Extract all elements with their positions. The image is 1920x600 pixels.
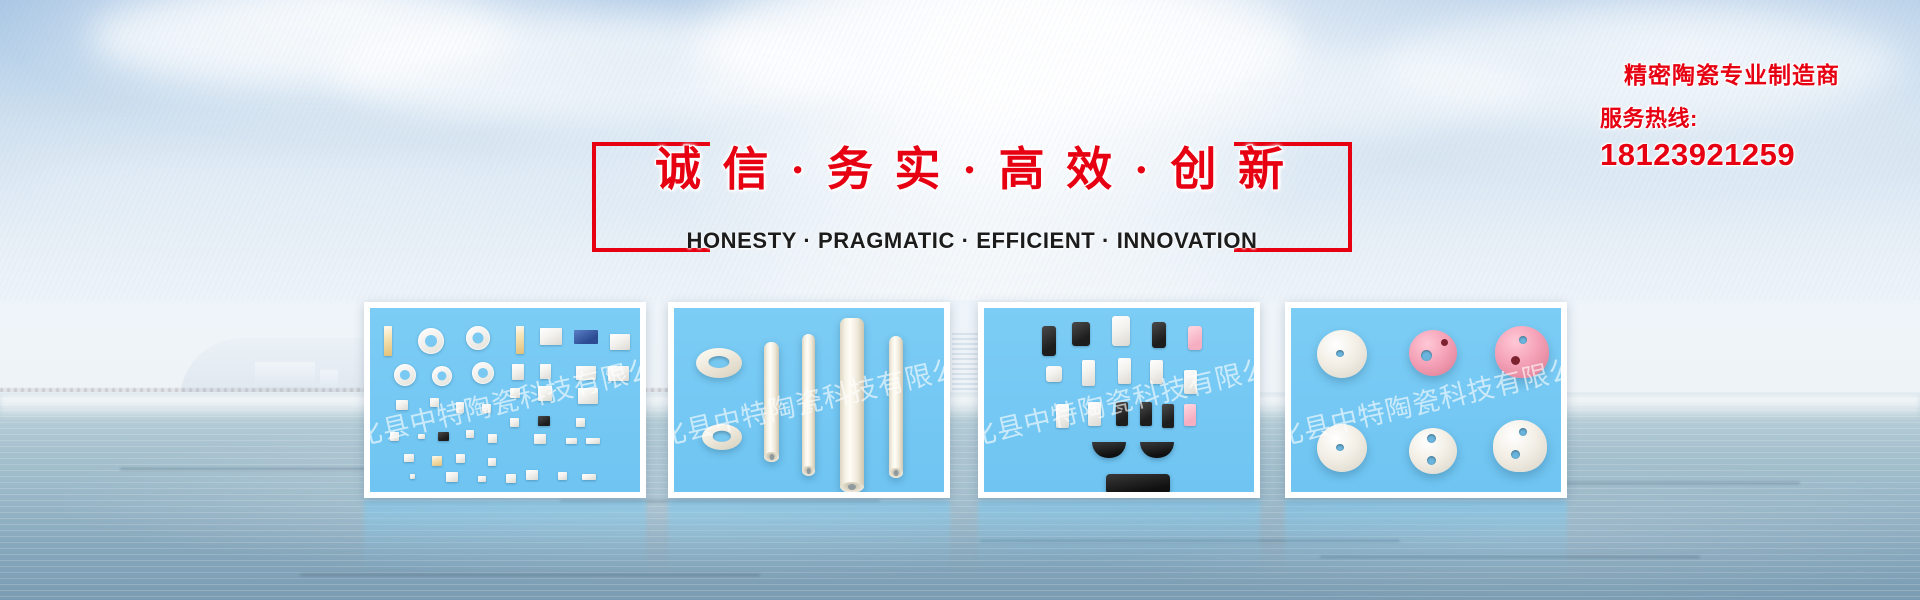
ceramic-tube: [889, 336, 903, 478]
ceramic-base: [1106, 474, 1170, 492]
ceramic-part: [538, 416, 550, 426]
product-panel-smd-components[interactable]: 新化县中特陶瓷科技有限公司: [364, 302, 646, 498]
ceramic-part: [540, 328, 562, 345]
ceramic-block: [1046, 366, 1062, 382]
disc-hole: [1421, 350, 1432, 361]
ceramic-tube: [840, 318, 864, 492]
ceramic-ring: [702, 424, 742, 450]
ceramic-block: [1112, 316, 1130, 346]
ceramic-part: [472, 362, 494, 384]
hero-banner: 诚 信 · 务 实 · 高 效 · 创 新 HONESTY · PRAGMATI…: [0, 0, 1920, 600]
ceramic-part: [576, 366, 596, 380]
ceramic-part: [566, 438, 577, 444]
ceramic-part: [506, 474, 516, 483]
ceramic-part: [396, 400, 408, 410]
ceramic-part: [430, 398, 439, 407]
ceramic-part: [478, 476, 486, 482]
ceramic-part: [432, 366, 452, 386]
ceramic-part: [540, 364, 551, 379]
ceramic-block: [1184, 370, 1197, 394]
disc-hole: [1427, 456, 1436, 465]
ceramic-part: [418, 434, 425, 439]
ceramic-part: [410, 474, 415, 479]
panel-reflection: [668, 500, 950, 574]
ceramic-part: [510, 418, 519, 427]
ceramic-part: [578, 388, 598, 404]
ceramic-nozzle: [1493, 420, 1547, 472]
ceramic-part: [390, 432, 399, 441]
ceramic-part: [438, 432, 449, 441]
ceramic-disc: [1409, 330, 1457, 376]
ceramic-part: [608, 366, 629, 381]
ceramic-block: [1140, 402, 1152, 426]
ceramic-tube: [764, 342, 779, 462]
disc-hole: [1427, 434, 1436, 443]
ceramic-part: [404, 454, 414, 462]
ceramic-part: [582, 474, 596, 480]
panel-image-area: 新化县中特陶瓷科技有限公司: [1291, 308, 1561, 492]
nozzle-hole: [1511, 450, 1520, 459]
ceramic-part: [466, 430, 474, 438]
ceramic-block: [1088, 402, 1101, 426]
ceramic-part: [446, 472, 458, 482]
disc-hole: [1441, 339, 1448, 346]
nozzle-hole: [1519, 336, 1527, 344]
ceramic-part: [512, 364, 524, 380]
disc-hole: [1336, 444, 1344, 451]
ceramic-arc: [1140, 442, 1174, 458]
ceramic-part: [534, 434, 546, 444]
ceramic-ring: [696, 348, 742, 378]
tube-bore: [894, 470, 899, 476]
ceramic-block: [1188, 326, 1202, 350]
ceramic-part: [574, 330, 598, 344]
ceramic-part: [394, 364, 416, 386]
ceramic-part: [384, 326, 392, 356]
panel-image-area: 新化县中特陶瓷科技有限公司: [370, 308, 640, 492]
ceramic-block: [1162, 404, 1174, 428]
ceramic-part: [488, 458, 496, 466]
ceramic-block: [1056, 404, 1069, 428]
nozzle-hole: [1511, 356, 1520, 365]
product-panel-ceramic-tubes[interactable]: 新化县中特陶瓷科技有限公司: [668, 302, 950, 498]
ceramic-disc: [1317, 424, 1367, 472]
ceramic-part: [456, 454, 465, 463]
panel-image-area: 新化县中特陶瓷科技有限公司: [674, 308, 944, 492]
ceramic-block: [1116, 402, 1128, 426]
panel-reflection: [1285, 500, 1567, 574]
ceramic-disc: [1409, 428, 1457, 474]
ceramic-part: [586, 438, 600, 444]
ceramic-block: [1184, 404, 1196, 426]
product-panel-ceramic-blocks[interactable]: 新化县中特陶瓷科技有限公司: [978, 302, 1260, 498]
ceramic-part: [558, 472, 567, 480]
panel-image-area: 新化县中特陶瓷科技有限公司: [984, 308, 1254, 492]
ceramic-part: [610, 334, 630, 350]
ceramic-nozzle: [1495, 326, 1549, 378]
ceramic-arc: [1092, 442, 1126, 458]
ceramic-part: [432, 456, 442, 466]
nozzle-hole: [1519, 428, 1527, 436]
panel-reflection: [978, 500, 1260, 574]
ceramic-part: [510, 388, 520, 398]
ceramic-disc: [1317, 330, 1367, 378]
ceramic-block: [1072, 322, 1090, 346]
ceramic-part: [456, 402, 464, 413]
ceramic-block: [1118, 358, 1131, 384]
ceramic-part: [538, 386, 552, 401]
ceramic-part: [576, 418, 585, 427]
ceramic-part: [466, 326, 490, 350]
ceramic-block: [1042, 326, 1056, 356]
ceramic-block: [1082, 360, 1095, 386]
ceramic-part: [488, 434, 497, 443]
product-panel-ceramic-discs[interactable]: 新化县中特陶瓷科技有限公司: [1285, 302, 1567, 498]
ceramic-part: [526, 470, 538, 480]
ceramic-part: [418, 328, 444, 354]
ceramic-tube: [802, 334, 815, 476]
ceramic-block: [1150, 360, 1163, 384]
product-panel-row: 新化县中特陶瓷科技有限公司: [0, 0, 1920, 600]
ceramic-part: [482, 404, 491, 413]
ceramic-part: [516, 326, 524, 354]
ceramic-block: [1152, 322, 1166, 348]
panel-reflection: [364, 500, 646, 574]
disc-hole: [1336, 350, 1344, 357]
